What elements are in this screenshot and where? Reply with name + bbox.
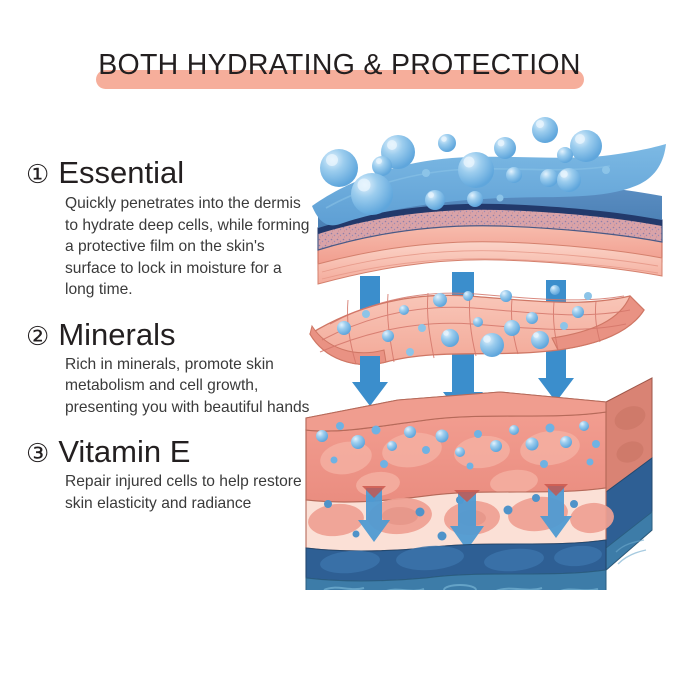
feature-description-minerals: Rich in minerals, promote skin metabolis…: [65, 354, 311, 419]
feature-number-3: ③: [26, 438, 49, 470]
moisture-film-layer: [312, 117, 666, 284]
feature-number-2: ②: [26, 321, 49, 353]
page-header: BOTH HYDRATING & PROTECTION: [0, 48, 679, 94]
feature-item-essential: ① Essential Quickly penetrates into the …: [26, 155, 311, 301]
feature-heading: ② Minerals: [26, 317, 311, 353]
skin-layers-illustration: [300, 100, 672, 590]
feature-item-vitamin-e: ③ Vitamin E Repair injured cells to help…: [26, 434, 311, 514]
feature-description-vitamin-e: Repair injured cells to help restore ski…: [65, 471, 311, 514]
feature-description-essential: Quickly penetrates into the dermis to hy…: [65, 193, 311, 301]
skin-block-layer: [306, 378, 652, 590]
feature-item-minerals: ② Minerals Rich in minerals, promote ski…: [26, 317, 311, 419]
feature-heading: ① Essential: [26, 155, 311, 191]
feature-title-vitamin-e: Vitamin E: [58, 434, 190, 470]
feature-list: ① Essential Quickly penetrates into the …: [26, 155, 311, 520]
feature-title-minerals: Minerals: [58, 317, 175, 353]
feature-number-1: ①: [26, 159, 49, 191]
feature-title-essential: Essential: [58, 155, 184, 191]
feature-heading: ③ Vitamin E: [26, 434, 311, 470]
page-title: BOTH HYDRATING & PROTECTION: [0, 48, 679, 82]
